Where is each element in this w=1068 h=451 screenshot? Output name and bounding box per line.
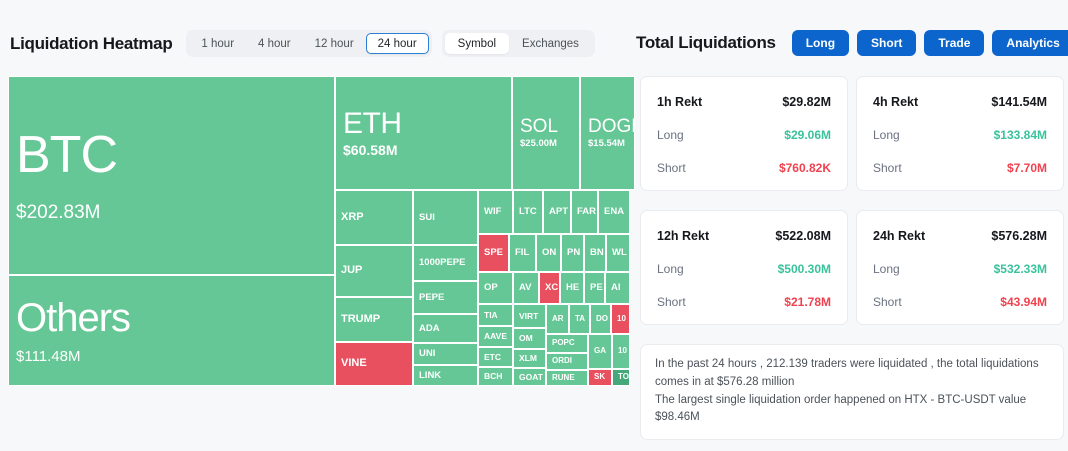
treemap-tile-ga[interactable]: GA	[588, 334, 612, 369]
treemap-tile-xlm[interactable]: XLM	[513, 349, 546, 368]
stat-long-label: Long	[657, 128, 684, 142]
treemap-tile-rune[interactable]: RUNE	[546, 370, 588, 386]
treemap-tile-1000pepe[interactable]: 1000PEPE	[413, 245, 478, 281]
tile-symbol: Others	[16, 297, 334, 339]
treemap-tile-wl[interactable]: WL	[606, 234, 630, 272]
tile-value: $111.48M	[16, 349, 334, 365]
grouping-symbol[interactable]: Symbol	[445, 33, 509, 54]
stat-row-long: Long $532.33M	[857, 252, 1063, 285]
stat-short-value: $7.70M	[1007, 161, 1047, 175]
treemap-tile-ena[interactable]: ENA	[598, 190, 630, 234]
treemap-tile-etc[interactable]: ETC	[478, 347, 513, 367]
action-button-group: Long Short Trade Analytics	[792, 30, 1068, 56]
treemap-tile-trump[interactable]: TRUMP	[335, 297, 413, 342]
stat-short-label: Short	[873, 161, 902, 175]
tile-value: $15.54M	[588, 139, 634, 149]
tile-symbol: UNI	[419, 349, 477, 359]
tile-symbol: SPE	[484, 248, 508, 258]
timeframe-24-hour[interactable]: 24 hour	[366, 33, 429, 54]
treemap-tile-vine[interactable]: VINE	[335, 342, 413, 386]
tile-symbol: DOGE	[588, 117, 634, 137]
treemap-tile-sui[interactable]: SUI	[413, 190, 478, 245]
treemap-tile-pn[interactable]: PN	[561, 234, 584, 272]
treemap-tile-10-short[interactable]: 10	[611, 304, 630, 334]
stat-row-long: Long $500.30M	[641, 252, 847, 285]
tile-symbol: ORDI	[552, 357, 587, 365]
tile-symbol: BCH	[484, 372, 512, 381]
tile-symbol: 1000PEPE	[419, 258, 477, 268]
long-button[interactable]: Long	[792, 30, 849, 56]
section-title: Total Liquidations	[636, 33, 776, 53]
tile-symbol: VIRT	[519, 312, 545, 321]
tile-symbol: AAVE	[484, 332, 512, 341]
stat-long-label: Long	[873, 128, 900, 142]
treemap-tile-goat[interactable]: GOAT	[513, 368, 546, 386]
stat-long-value: $532.33M	[994, 262, 1047, 276]
treemap-tile-to[interactable]: TO	[612, 369, 630, 386]
stat-title: 1h Rekt	[657, 95, 702, 109]
treemap-tile-uni[interactable]: UNI	[413, 343, 478, 365]
timeframe-4-hour[interactable]: 4 hour	[246, 33, 303, 54]
stat-card-12h[interactable]: 12h Rekt $522.08M Long $500.30M Short $2…	[640, 210, 848, 325]
tile-symbol: XRP	[341, 212, 412, 224]
stat-title: 12h Rekt	[657, 229, 709, 243]
tile-symbol: ETH	[343, 108, 511, 140]
tile-symbol: GOAT	[519, 373, 545, 382]
short-button[interactable]: Short	[857, 30, 916, 56]
stat-short-label: Short	[657, 161, 686, 175]
tile-symbol: GA	[594, 347, 611, 355]
stat-row-total: 24h Rekt $576.28M	[857, 219, 1063, 252]
treemap-tile-av[interactable]: AV	[513, 272, 539, 304]
treemap-tile-btc[interactable]: BTC $202.83M	[8, 76, 335, 275]
stat-long-value: $133.84M	[994, 128, 1047, 142]
tile-symbol: BTC	[16, 128, 334, 183]
tile-symbol: DO	[596, 315, 610, 323]
tile-symbol: FIL	[515, 248, 535, 258]
treemap-tile-ltc[interactable]: LTC	[513, 190, 543, 234]
heatmap-header: Liquidation Heatmap 1 hour 4 hour 12 hou…	[10, 30, 595, 57]
stat-short-value: $43.94M	[1000, 295, 1047, 309]
treemap-tile-he[interactable]: HE	[560, 272, 584, 304]
treemap-tile-popc[interactable]: POPC	[546, 334, 588, 353]
tile-symbol: TA	[575, 315, 589, 323]
stat-short-value: $21.78M	[784, 295, 831, 309]
stat-row-short: Short $7.70M	[857, 151, 1063, 184]
summary-panel: In the past 24 hours , 212.139 traders w…	[640, 344, 1064, 440]
stat-long-value: $29.06M	[784, 128, 831, 142]
tile-symbol: FAR	[577, 207, 597, 217]
tile-symbol: OP	[484, 283, 512, 293]
tile-symbol: XLM	[519, 354, 545, 363]
treemap-tile-bch[interactable]: BCH	[478, 367, 513, 386]
treemap-tile-aave[interactable]: AAVE	[478, 326, 513, 347]
treemap-tile-tia[interactable]: TIA	[478, 304, 513, 326]
treemap-tile-fil[interactable]: FIL	[509, 234, 536, 272]
stat-card-1h[interactable]: 1h Rekt $29.82M Long $29.06M Short $760.…	[640, 76, 848, 191]
treemap-tile-far[interactable]: FAR	[571, 190, 598, 234]
stat-short-label: Short	[873, 295, 902, 309]
tile-symbol: AR	[552, 315, 568, 323]
stat-total: $141.54M	[991, 95, 1047, 109]
stat-title: 24h Rekt	[873, 229, 925, 243]
trade-button[interactable]: Trade	[924, 30, 984, 56]
tile-value: $202.83M	[16, 203, 334, 223]
treemap-tile-ta[interactable]: TA	[569, 304, 590, 334]
tile-symbol: PE	[590, 283, 604, 293]
timeframe-switcher[interactable]: 1 hour 4 hour 12 hour 24 hour	[186, 30, 431, 57]
stat-card-4h[interactable]: 4h Rekt $141.54M Long $133.84M Short $7.…	[856, 76, 1064, 191]
stat-row-total: 4h Rekt $141.54M	[857, 85, 1063, 118]
tile-symbol: LINK	[419, 371, 477, 381]
treemap-tile-on[interactable]: ON	[536, 234, 561, 272]
timeframe-12-hour[interactable]: 12 hour	[303, 33, 366, 54]
treemap-tile-op[interactable]: OP	[478, 272, 513, 304]
stat-row-total: 12h Rekt $522.08M	[641, 219, 847, 252]
tile-symbol: 10	[617, 315, 629, 323]
tile-symbol: APT	[549, 207, 570, 217]
treemap-tile-sk[interactable]: SK	[588, 369, 612, 386]
tile-symbol: SK	[594, 373, 611, 381]
summary-line-2: The largest single liquidation order hap…	[655, 392, 1049, 428]
treemap-tile-10-long[interactable]: 10	[612, 334, 630, 369]
treemap-tile-bn[interactable]: BN	[584, 234, 606, 272]
stat-long-value: $500.30M	[778, 262, 831, 276]
tile-symbol: SOL	[520, 117, 579, 137]
grouping-exchanges[interactable]: Exchanges	[509, 33, 592, 54]
stat-short-value: $760.82K	[779, 161, 831, 175]
stat-row-long: Long $29.06M	[641, 118, 847, 151]
tile-symbol: HE	[566, 283, 583, 293]
liquidation-dashboard: Liquidation Heatmap 1 hour 4 hour 12 hou…	[0, 0, 1068, 451]
stat-row-short: Short $21.78M	[641, 285, 847, 318]
treemap-tile-apt[interactable]: APT	[543, 190, 571, 234]
treemap-tile-ai[interactable]: AI	[605, 272, 630, 304]
stat-total: $29.82M	[782, 95, 831, 109]
treemap-tile-doge[interactable]: DOGE $15.54M	[580, 76, 635, 190]
grouping-switcher[interactable]: Symbol Exchanges	[442, 30, 595, 57]
tile-symbol: LTC	[519, 207, 542, 217]
tile-symbol: VINE	[341, 358, 412, 370]
treemap-tile-pepe[interactable]: PEPE	[413, 281, 478, 314]
treemap-tile-link[interactable]: LINK	[413, 365, 478, 386]
stat-long-label: Long	[873, 262, 900, 276]
page-title: Liquidation Heatmap	[10, 34, 172, 54]
treemap-tile-wif[interactable]: WIF	[478, 190, 513, 234]
liquidations-header: Total Liquidations Long Short Trade Anal…	[636, 30, 1068, 56]
tile-symbol: BN	[590, 248, 605, 258]
treemap-tile-spe[interactable]: SPE	[478, 234, 509, 272]
treemap-tile-virt[interactable]: VIRT	[513, 304, 546, 328]
stat-row-short: Short $760.82K	[641, 151, 847, 184]
treemap-tile-others[interactable]: Others $111.48M	[8, 275, 335, 386]
tile-symbol: WL	[612, 248, 629, 258]
treemap-tile-xc[interactable]: XC	[539, 272, 560, 304]
timeframe-1-hour[interactable]: 1 hour	[189, 33, 246, 54]
tile-symbol: 10	[618, 347, 629, 355]
analytics-button[interactable]: Analytics	[992, 30, 1068, 56]
treemap-tile-ar[interactable]: AR	[546, 304, 569, 334]
treemap-tile-ada[interactable]: ADA	[413, 314, 478, 343]
stat-row-short: Short $43.94M	[857, 285, 1063, 318]
tile-symbol: ENA	[604, 207, 629, 217]
tile-symbol: PEPE	[419, 293, 477, 303]
tile-value: $60.58M	[343, 143, 511, 158]
liquidation-treemap: BTC $202.83M Others $111.48M ETH $60.58M…	[8, 76, 630, 386]
stat-total: $522.08M	[775, 229, 831, 243]
tile-symbol: XC	[545, 283, 559, 293]
treemap-tile-om[interactable]: OM	[513, 328, 546, 349]
tile-symbol: SUI	[419, 213, 477, 223]
treemap-tile-sol[interactable]: SOL $25.00M	[512, 76, 580, 190]
stat-card-24h[interactable]: 24h Rekt $576.28M Long $532.33M Short $4…	[856, 210, 1064, 325]
stat-total: $576.28M	[991, 229, 1047, 243]
tile-symbol: ON	[542, 248, 560, 258]
stat-long-label: Long	[657, 262, 684, 276]
stat-row-long: Long $133.84M	[857, 118, 1063, 151]
treemap-tile-eth[interactable]: ETH $60.58M	[335, 76, 512, 190]
stat-row-total: 1h Rekt $29.82M	[641, 85, 847, 118]
stat-short-label: Short	[657, 295, 686, 309]
treemap-tile-xrp[interactable]: XRP	[335, 190, 413, 245]
treemap-tile-ordi[interactable]: ORDI	[546, 353, 588, 370]
tile-symbol: PN	[567, 248, 583, 258]
tile-symbol: TIA	[484, 311, 512, 320]
stat-title: 4h Rekt	[873, 95, 918, 109]
tile-symbol: WIF	[484, 207, 512, 217]
summary-line-1: In the past 24 hours , 212.139 traders w…	[655, 356, 1049, 392]
tile-symbol: TO	[618, 373, 629, 381]
treemap-tile-pe[interactable]: PE	[584, 272, 605, 304]
tile-symbol: POPC	[552, 339, 587, 347]
tile-symbol: RUNE	[552, 374, 587, 382]
tile-symbol: ETC	[484, 353, 512, 362]
tile-symbol: OM	[519, 334, 545, 343]
treemap-tile-jup[interactable]: JUP	[335, 245, 413, 297]
treemap-tile-do[interactable]: DO	[590, 304, 611, 334]
tile-symbol: AI	[611, 283, 629, 293]
tile-symbol: TRUMP	[341, 314, 412, 326]
tile-symbol: ADA	[419, 324, 477, 334]
tile-symbol: JUP	[341, 265, 412, 277]
tile-symbol: AV	[519, 283, 538, 293]
tile-value: $25.00M	[520, 139, 579, 149]
